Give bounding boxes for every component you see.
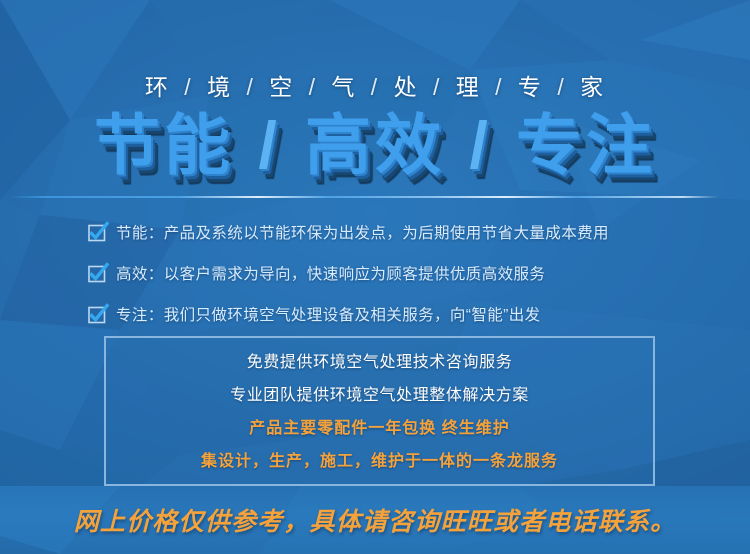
list-item-label: 专注：我们只做环境空气处理设备及相关服务，向“智能”出发 <box>116 303 541 325</box>
eyebrow-char-7: 家 <box>580 74 605 100</box>
list-item: 节能：产品及系统以节能环保为出发点，为后期使用节省大量成本费用 <box>88 211 688 252</box>
headline-part-0: 节能 <box>94 108 234 182</box>
eyebrow-char-4: 处 <box>394 74 419 100</box>
headline: 节能 / 高效 / 专注 <box>0 112 750 179</box>
checkbox-checked-icon <box>88 305 107 324</box>
headline-divider <box>10 196 718 198</box>
headline-part-1: 高效 <box>305 108 445 182</box>
feature-bullet-list: 节能：产品及系统以节能环保为出发点，为后期使用节省大量成本费用 高效：以客户需求… <box>88 211 688 334</box>
eyebrow-char-6: 专 <box>518 74 543 100</box>
eyebrow-tagline: 环 / 境 / 空 / 气 / 处 / 理 / 专 / 家 <box>0 68 750 102</box>
promise-line: 集设计，生产，施工，维护于一体的一条龙服务 <box>201 446 558 477</box>
eyebrow-separator-4: / <box>427 74 447 100</box>
headline-separator-0: / <box>256 108 282 182</box>
eyebrow-separator-2: / <box>303 74 323 100</box>
promise-line: 产品主要零配件一年包换 终生维护 <box>249 413 509 444</box>
eyebrow-char-0: 环 <box>145 74 170 100</box>
checkbox-checked-icon <box>88 264 107 283</box>
checkbox-checked-icon <box>88 223 107 242</box>
eyebrow-separator-5: / <box>489 74 509 100</box>
eyebrow-char-1: 境 <box>207 74 232 100</box>
service-promise-box: 免费提供环境空气处理技术咨询服务 专业团队提供环境空气处理整体解决方案 产品主要… <box>104 336 655 486</box>
headline-separator-1: / <box>467 108 493 182</box>
bottom-notice-text: 网上价格仅供参考，具体请咨询旺旺或者电话联系。 <box>74 502 677 538</box>
eyebrow-separator-1: / <box>240 74 260 100</box>
eyebrow-separator-3: / <box>365 74 385 100</box>
promise-line: 免费提供环境空气处理技术咨询服务 <box>247 347 513 378</box>
bottom-notice-strip: 网上价格仅供参考，具体请咨询旺旺或者电话联系。 <box>0 486 750 554</box>
headline-part-2: 专注 <box>516 108 656 182</box>
eyebrow-separator-0: / <box>178 74 198 100</box>
list-item: 专注：我们只做环境空气处理设备及相关服务，向“智能”出发 <box>88 293 688 334</box>
eyebrow-char-3: 气 <box>331 74 356 100</box>
list-item: 高效：以客户需求为导向，快速响应为顾客提供优质高效服务 <box>88 252 688 293</box>
eyebrow-char-2: 空 <box>269 74 294 100</box>
list-item-label: 节能：产品及系统以节能环保为出发点，为后期使用节省大量成本费用 <box>116 221 609 243</box>
eyebrow-separator-6: / <box>551 74 571 100</box>
promise-line: 专业团队提供环境空气处理整体解决方案 <box>230 380 529 411</box>
promotional-banner: 环 / 境 / 空 / 气 / 处 / 理 / 专 / 家 节能 / 高效 / … <box>0 0 750 554</box>
list-item-label: 高效：以客户需求为导向，快速响应为顾客提供优质高效服务 <box>116 262 545 284</box>
eyebrow-char-5: 理 <box>456 74 481 100</box>
